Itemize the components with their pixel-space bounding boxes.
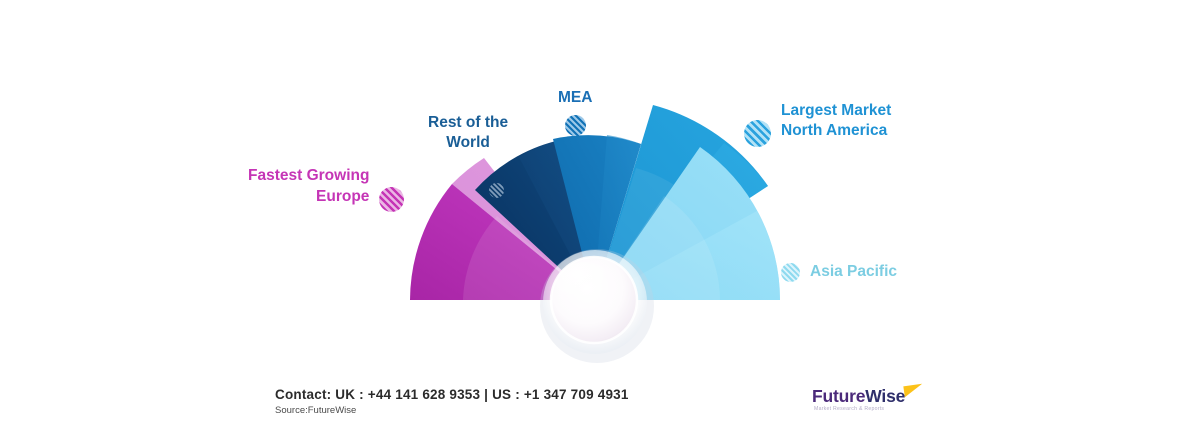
futurewise-logo[interactable]: FutureWise Market Research & Reports: [812, 386, 927, 420]
label-europe-line2: Europe: [248, 187, 369, 207]
label-europe-line1: Fastest Growing: [248, 166, 369, 186]
label-rest-of-the-world[interactable]: Rest of the World: [428, 113, 508, 154]
brand-wordmark: FutureWise: [812, 386, 905, 407]
hub-gloss: [555, 262, 615, 310]
footer-contact-line: Contact: UK : +44 141 628 9353 | US : +1…: [275, 387, 629, 402]
brand-tagline: Market Research & Reports: [814, 406, 884, 412]
fan-chart-svg: [0, 0, 1200, 428]
legend-dot-europe-icon: [379, 187, 404, 212]
label-na-line2: North America: [781, 121, 891, 141]
legend-dot-asia-pacific-icon: [781, 263, 800, 282]
label-north-america[interactable]: Largest Market North America: [744, 95, 891, 147]
label-row-text: Rest of the World: [428, 113, 508, 154]
center-hub: [540, 249, 654, 363]
label-row-line2: World: [428, 133, 508, 153]
label-apac-text: Asia Pacific: [810, 262, 897, 282]
label-mea[interactable]: MEA: [558, 88, 592, 136]
regional-fan-chart: [0, 0, 1200, 428]
label-na-line1: Largest Market: [781, 101, 891, 121]
label-mea-text: MEA: [558, 88, 592, 108]
label-apac-line1: Asia Pacific: [810, 262, 897, 282]
label-na-text: Largest Market North America: [781, 101, 891, 142]
infographic-page: Fastest Growing Europe Rest of the World…: [0, 0, 1200, 428]
label-mea-line1: MEA: [558, 88, 592, 108]
legend-dot-mea-icon: [565, 115, 586, 136]
label-europe[interactable]: Fastest Growing Europe: [248, 161, 404, 212]
brand-wordmark-part2: Wise: [865, 386, 905, 406]
brand-wordmark-part1: Future: [812, 386, 865, 406]
brand-swoosh-icon: [903, 384, 923, 398]
legend-dot-rest-of-the-world-icon: [489, 183, 504, 198]
label-asia-pacific[interactable]: Asia Pacific: [781, 262, 897, 282]
legend-dot-north-america-icon: [744, 120, 771, 147]
label-row-line1: Rest of the: [428, 113, 508, 133]
label-europe-text: Fastest Growing Europe: [248, 166, 369, 207]
footer-source-line: Source:FutureWise: [275, 405, 356, 416]
